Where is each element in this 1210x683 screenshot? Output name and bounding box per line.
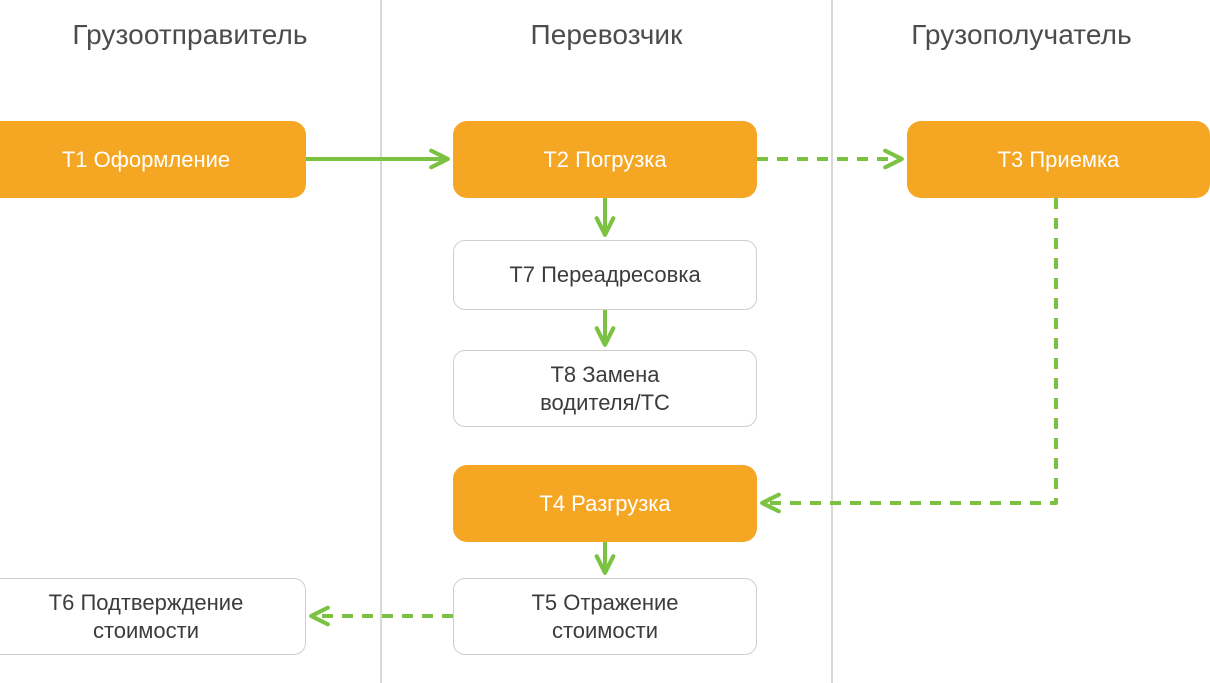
node-t1-label: T1 Оформление [52, 146, 240, 174]
swimlane-diagram: Грузоотправитель Перевозчик Грузополучат… [0, 0, 1210, 683]
node-t4-label: T4 Разгрузка [529, 490, 680, 518]
node-t7-label: T7 Переадресовка [499, 261, 710, 289]
node-t8-label-line2: водителя/ТС [540, 390, 670, 415]
node-t8-label-line1: T8 Замена [550, 362, 659, 387]
node-t6-label-line2: стоимости [93, 618, 199, 643]
node-t2-pogruzka[interactable]: T2 Погрузка [453, 121, 757, 198]
lane-header-consignee: Грузополучатель [833, 18, 1210, 52]
node-t8-label: T8 Замена водителя/ТС [530, 361, 680, 417]
node-t5-label: T5 Отражение стоимости [521, 589, 688, 645]
node-t8-zamena-voditelya[interactable]: T8 Замена водителя/ТС [453, 350, 757, 427]
lane-header-shipper: Грузоотправитель [0, 18, 380, 52]
node-t1-oformlenie[interactable]: T1 Оформление [0, 121, 306, 198]
node-t2-label: T2 Погрузка [533, 146, 676, 174]
node-t3-label: T3 Приемка [988, 146, 1130, 174]
node-t5-label-line1: T5 Отражение [531, 590, 678, 615]
node-t3-priemka[interactable]: T3 Приемка [907, 121, 1210, 198]
node-t5-label-line2: стоимости [552, 618, 658, 643]
node-t6-podtverzhdenie-stoimosti[interactable]: T6 Подтверждение стоимости [0, 578, 306, 655]
lane-divider-shipper-carrier [380, 0, 382, 683]
lane-divider-carrier-consignee [831, 0, 833, 683]
node-t5-otrazhenie-stoimosti[interactable]: T5 Отражение стоимости [453, 578, 757, 655]
lane-header-carrier: Перевозчик [382, 18, 831, 52]
node-t6-label-line1: T6 Подтверждение [49, 590, 244, 615]
edge-t3-to-t4 [763, 198, 1056, 503]
node-t6-label: T6 Подтверждение стоимости [39, 589, 254, 645]
node-t7-pereadresovka[interactable]: T7 Переадресовка [453, 240, 757, 310]
node-t4-razgruzka[interactable]: T4 Разгрузка [453, 465, 757, 542]
